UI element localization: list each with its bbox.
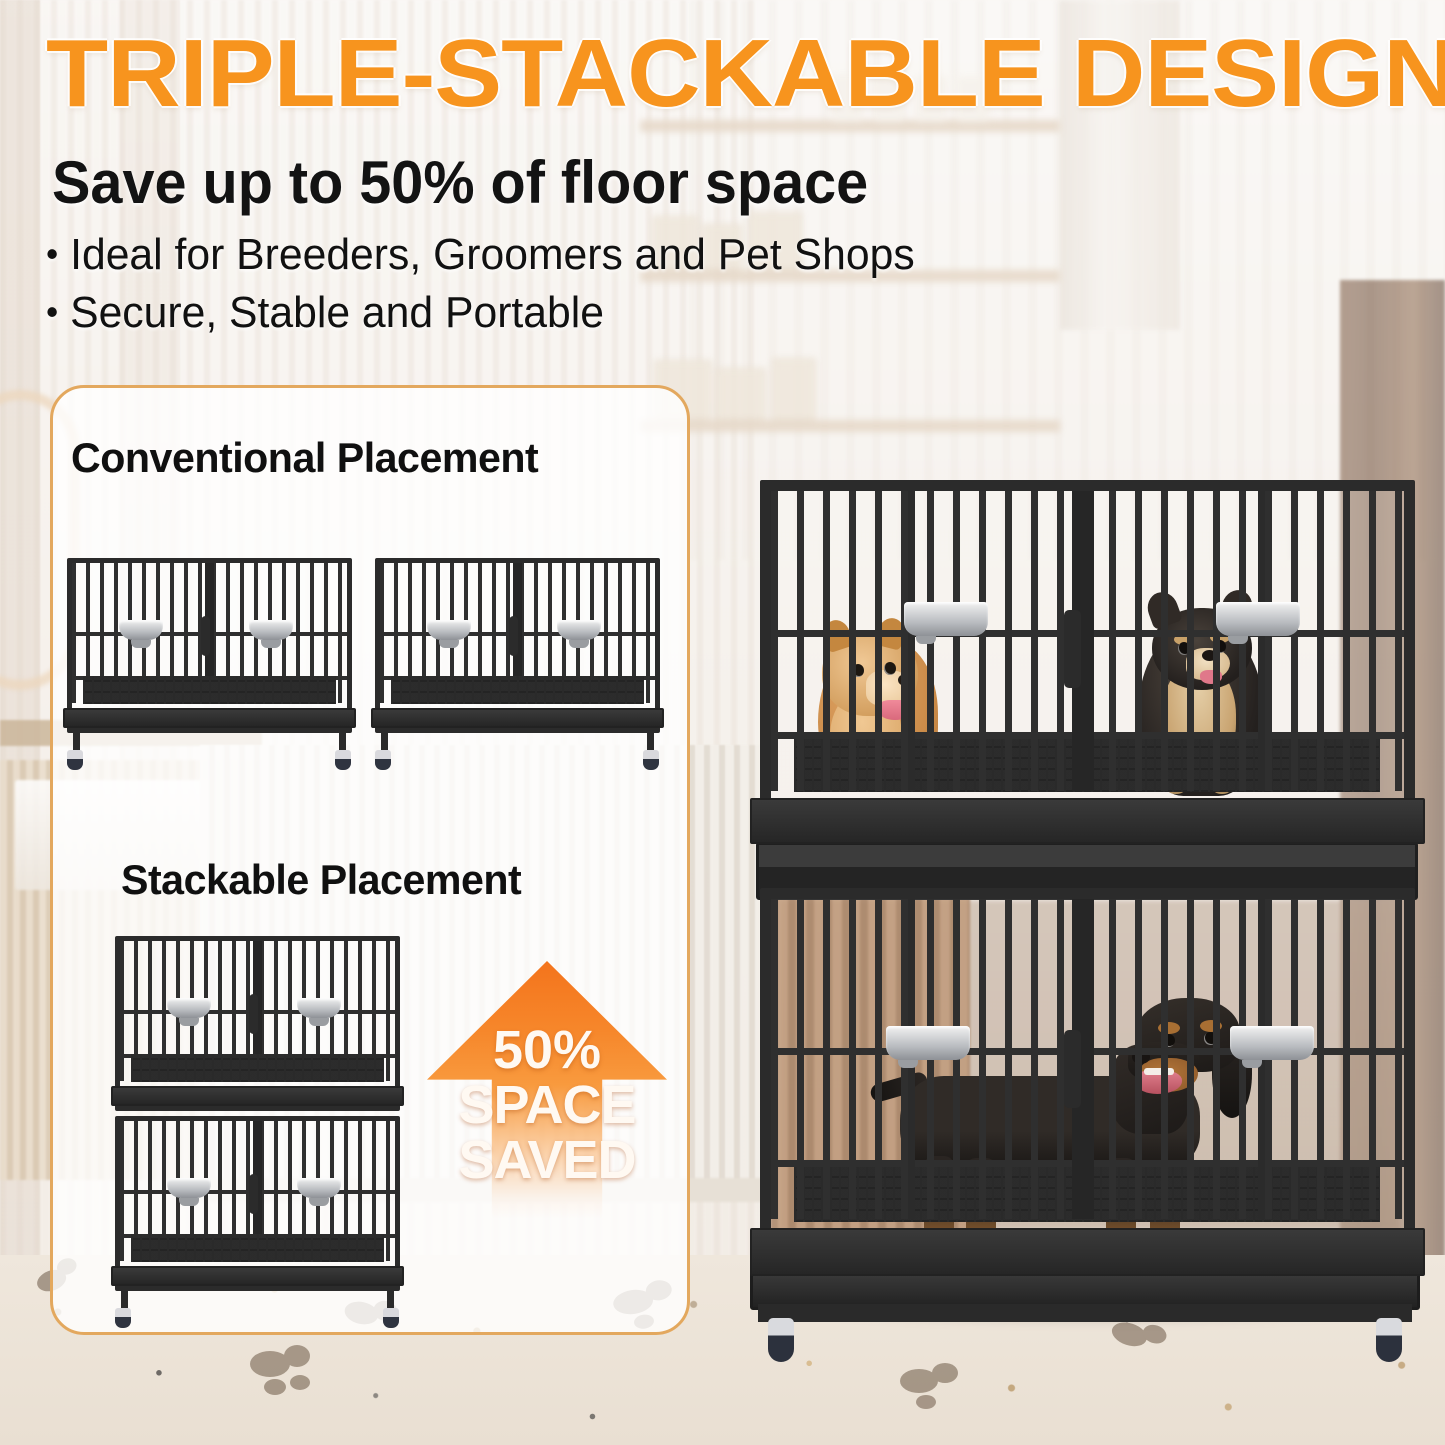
space-saved-text: 50% SPACE SAVED [427, 1023, 667, 1188]
caster-wheel-icon [383, 1308, 399, 1328]
food-bowl-icon [167, 998, 211, 1018]
cage-tray [63, 708, 356, 728]
hero-product-image [752, 480, 1422, 1310]
space-saved-badge: 50% SPACE SAVED [427, 961, 667, 1219]
food-bowl-icon [297, 998, 341, 1018]
conventional-placement-label: Conventional Placement [71, 434, 538, 482]
food-bowl-icon [119, 620, 163, 640]
cage-tray [371, 708, 664, 728]
list-item-label: Ideal for Breeders, Groomers and Pet Sho… [70, 230, 915, 279]
cage-grid-floor [83, 676, 336, 704]
caster-wheel-icon [643, 750, 659, 770]
badge-line-1: 50% [427, 1023, 667, 1078]
cage-latch [201, 616, 210, 656]
caster-wheel-icon [115, 1308, 131, 1328]
cage-latch [249, 1174, 258, 1214]
comparison-panel: Conventional Placement [50, 385, 690, 1335]
caster-wheel-icon [335, 750, 351, 770]
cage-conventional-right [375, 558, 660, 733]
cage-stacked-lower [115, 1116, 400, 1291]
cage-latch [1064, 610, 1081, 688]
feature-bullet-list: • Ideal for Breeders, Groomers and Pet S… [46, 230, 942, 346]
page-title: TRIPLE-STACKABLE DESIGN [46, 26, 1445, 122]
cage-grid-floor [131, 1234, 384, 1262]
cage-grid-floor [391, 676, 644, 704]
food-bowl-icon [1216, 602, 1300, 636]
cage-latch [1064, 1030, 1081, 1108]
cage-latch [509, 616, 518, 656]
food-bowl-icon [904, 602, 988, 636]
stackable-placement-label: Stackable Placement [121, 856, 521, 904]
bullet-dot-icon: • [46, 233, 58, 274]
caster-wheel-icon [768, 1318, 794, 1362]
cage-door-edge [908, 491, 915, 791]
cage-conventional-left [67, 558, 352, 733]
hero-base-frame [758, 1304, 1412, 1322]
cage-stacked-upper [115, 936, 400, 1111]
cage-grid-floor [131, 1054, 384, 1082]
food-bowl-icon [886, 1026, 970, 1060]
badge-line-2: SPACE [427, 1078, 667, 1133]
caster-wheel-icon [375, 750, 391, 770]
food-bowl-icon [249, 620, 293, 640]
hero-cage-bottom-tier [760, 888, 1415, 1278]
bullet-dot-icon: • [46, 291, 58, 332]
food-bowl-icon [557, 620, 601, 640]
list-item: • Ideal for Breeders, Groomers and Pet S… [46, 230, 915, 280]
cage-latch [249, 994, 258, 1034]
food-bowl-icon [427, 620, 471, 640]
food-bowl-icon [1230, 1026, 1314, 1060]
cage-tray [111, 1266, 404, 1286]
cage-door-edge [1258, 491, 1265, 791]
list-item-label: Secure, Stable and Portable [70, 288, 604, 337]
cage-stand [115, 1286, 400, 1314]
food-bowl-icon [297, 1178, 341, 1198]
cage-stand [375, 728, 660, 756]
badge-line-3: SAVED [427, 1133, 667, 1188]
hero-cage-top-tier [760, 480, 1415, 845]
page-subtitle: Save up to 50% of floor space [52, 148, 868, 217]
food-bowl-icon [167, 1178, 211, 1198]
cage-tray [111, 1086, 404, 1106]
list-item: • Secure, Stable and Portable [46, 288, 915, 338]
cage-stand [67, 728, 352, 756]
caster-wheel-icon [1376, 1318, 1402, 1362]
caster-wheel-icon [67, 750, 83, 770]
cage-tray [750, 1228, 1425, 1276]
cage-tray [750, 798, 1425, 844]
